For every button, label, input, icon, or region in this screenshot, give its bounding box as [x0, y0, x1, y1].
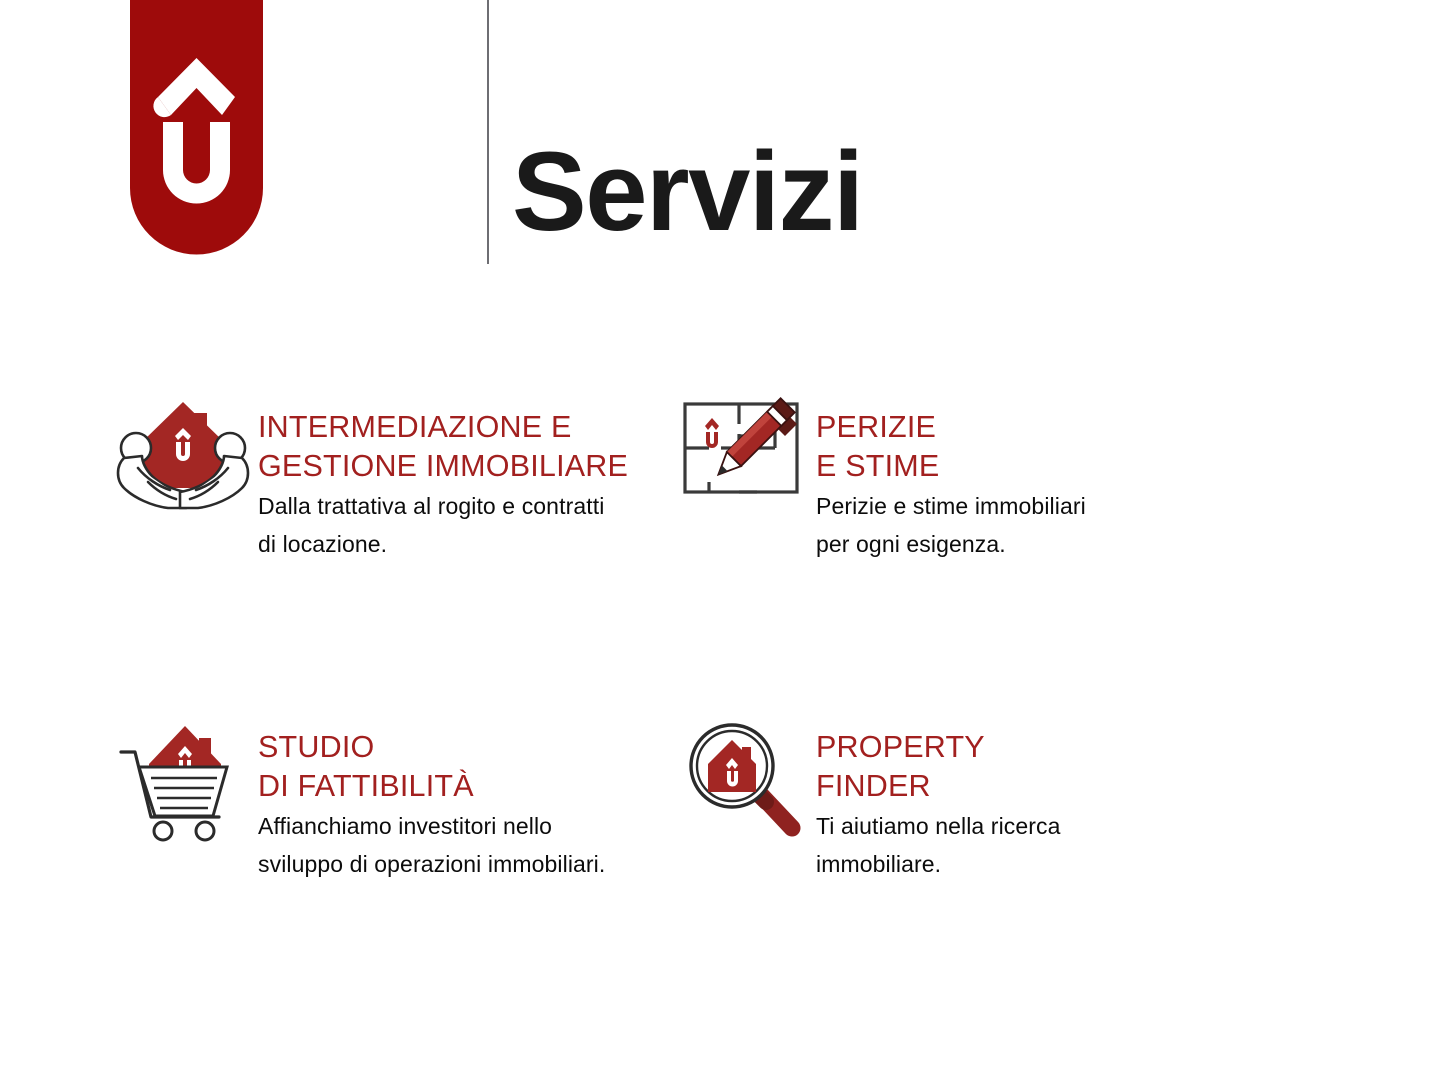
- service-item-studio-fattibilita[interactable]: STUDIO DI FATTIBILITÀ Affianchiamo inves…: [108, 706, 668, 883]
- shopping-cart-house-icon: [108, 706, 258, 826]
- service-item-perizie[interactable]: PERIZIE E STIME Perizie e stime immobili…: [668, 386, 1228, 563]
- header-divider: [487, 0, 489, 264]
- row-spacer: [0, 563, 1440, 706]
- slide-canvas: Servizi: [0, 0, 1440, 1080]
- magnifier-house-icon: [668, 706, 816, 826]
- page-title: Servizi: [512, 136, 863, 248]
- service-item-property-finder[interactable]: PROPERTY FINDER Ti aiutiamo nella ricerc…: [668, 706, 1228, 883]
- service-description: Affianchiamo investitori nello sviluppo …: [258, 808, 668, 883]
- hands-holding-house-icon: [108, 386, 258, 506]
- service-title: PROPERTY FINDER: [816, 728, 1228, 805]
- service-title: INTERMEDIAZIONE E GESTIONE IMMOBILIARE: [258, 408, 668, 485]
- services-row-2: STUDIO DI FATTIBILITÀ Affianchiamo inves…: [0, 706, 1440, 883]
- service-description: Dalla trattativa al rogito e contratti d…: [258, 488, 668, 563]
- floorplan-pencil-icon: [668, 386, 816, 506]
- service-title: STUDIO DI FATTIBILITÀ: [258, 728, 668, 805]
- service-title: PERIZIE E STIME: [816, 408, 1228, 485]
- services-grid: INTERMEDIAZIONE E GESTIONE IMMOBILIARE D…: [0, 386, 1440, 883]
- brand-logo-house-u-icon: [130, 0, 263, 255]
- service-item-intermediazione[interactable]: INTERMEDIAZIONE E GESTIONE IMMOBILIARE D…: [108, 386, 668, 563]
- service-description: Ti aiutiamo nella ricerca immobiliare.: [816, 808, 1228, 883]
- services-row-1: INTERMEDIAZIONE E GESTIONE IMMOBILIARE D…: [0, 386, 1440, 563]
- service-description: Perizie e stime immobiliari per ogni esi…: [816, 488, 1228, 563]
